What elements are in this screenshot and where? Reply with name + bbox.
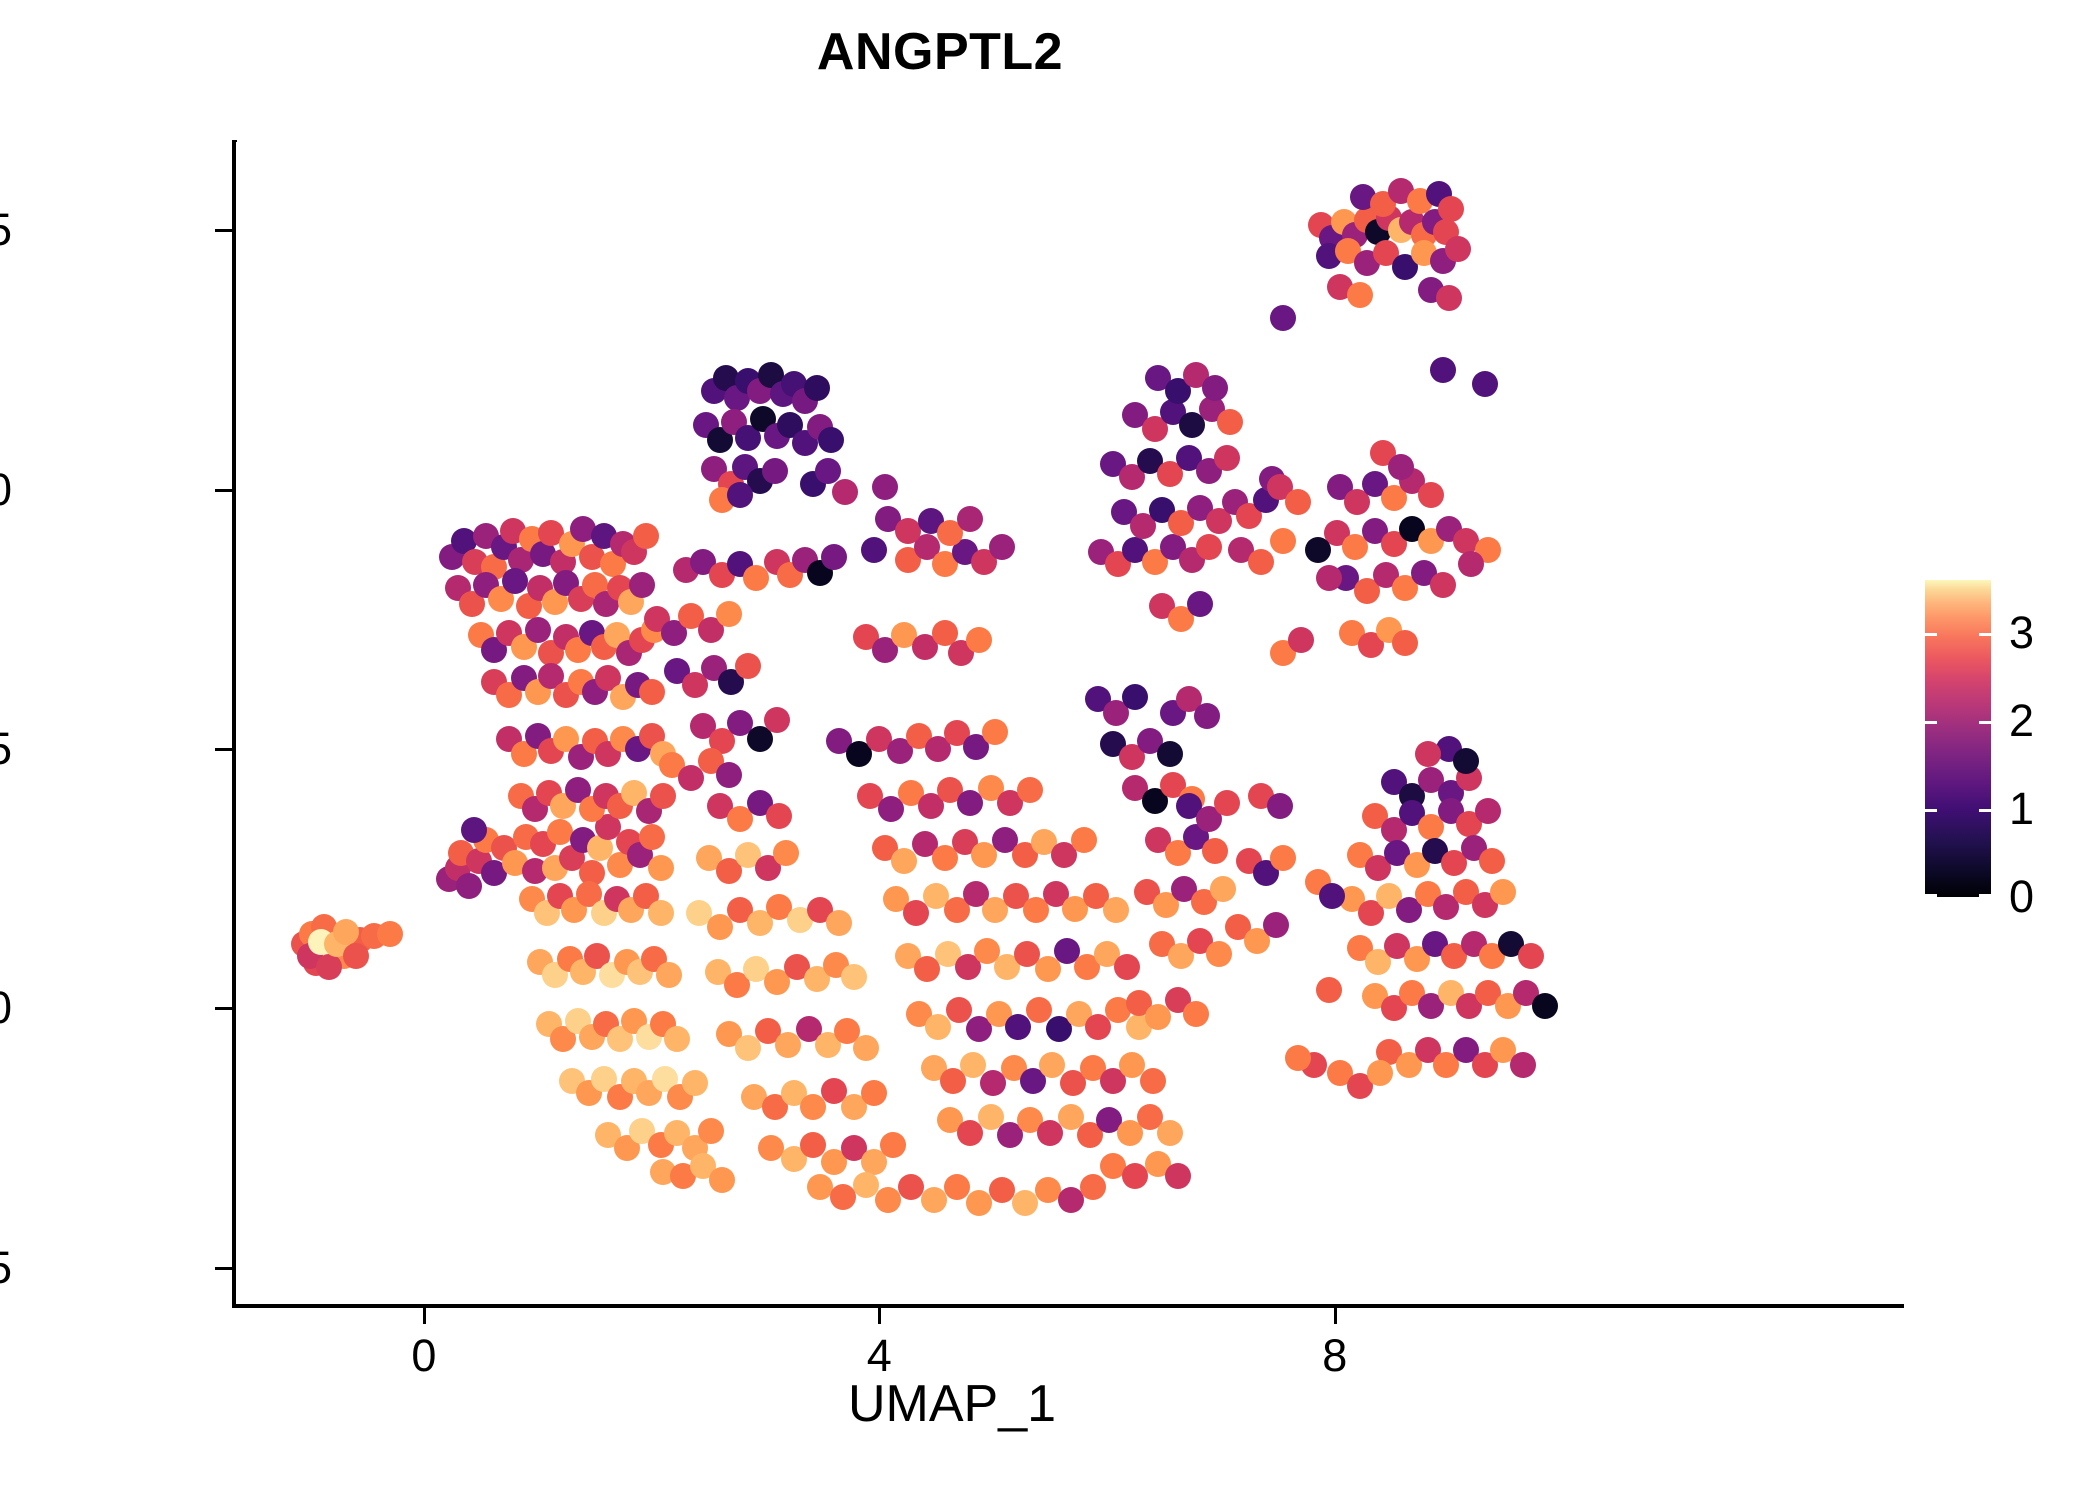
colorbar-tick xyxy=(1925,809,1937,812)
colorbar-tick xyxy=(1925,633,1937,636)
scatter-point xyxy=(639,679,665,705)
scatter-point xyxy=(861,537,887,563)
scatter-point xyxy=(1157,741,1183,767)
scatter-point xyxy=(727,482,753,508)
scatter-point xyxy=(1392,630,1418,656)
x-axis-title: UMAP_1 xyxy=(0,1374,1904,1434)
scatter-point xyxy=(966,1190,992,1216)
scatter-layer xyxy=(236,142,1904,1304)
colorbar-tick-label: 2 xyxy=(2009,695,2034,747)
scatter-point xyxy=(1490,879,1516,905)
colorbar-tick xyxy=(1979,633,1991,636)
y-tick-label: -2.5 xyxy=(0,1242,12,1294)
scatter-point xyxy=(1445,236,1471,262)
scatter-point xyxy=(525,617,551,643)
scatter-point xyxy=(826,910,852,936)
scatter-point xyxy=(989,534,1015,560)
scatter-point xyxy=(925,1014,951,1040)
scatter-point xyxy=(875,1187,901,1213)
x-tick-label: 0 xyxy=(411,1330,436,1382)
scatter-point xyxy=(1270,845,1296,871)
scatter-point xyxy=(1305,537,1331,563)
scatter-point xyxy=(1430,572,1456,598)
scatter-point xyxy=(1071,827,1097,853)
page-title: ANGPTL2 xyxy=(0,22,1880,82)
scatter-point xyxy=(1202,375,1228,401)
y-tick-label: 5.0 xyxy=(0,464,12,516)
x-tick xyxy=(878,1304,881,1324)
x-tick-label: 8 xyxy=(1322,1330,1347,1382)
y-tick-label: 2.5 xyxy=(0,723,12,775)
scatter-point xyxy=(1012,1190,1038,1216)
scatter-point xyxy=(1103,897,1129,923)
scatter-point xyxy=(735,653,761,679)
scatter-point xyxy=(1518,943,1544,969)
scatter-point xyxy=(1187,591,1213,617)
scatter-point xyxy=(648,900,674,926)
scatter-point xyxy=(1202,838,1228,864)
scatter-point xyxy=(1347,282,1373,308)
scatter-point xyxy=(898,1174,924,1200)
scatter-point xyxy=(1388,454,1414,480)
colorbar-tick-label: 3 xyxy=(2009,607,2034,659)
scatter-point xyxy=(944,1174,970,1200)
scatter-point xyxy=(1217,409,1243,435)
scatter-point xyxy=(1122,684,1148,710)
y-tick-label: 0.0 xyxy=(0,982,12,1034)
scatter-point xyxy=(966,627,992,653)
scatter-point xyxy=(1214,445,1240,471)
colorbar-tick xyxy=(1925,894,1937,897)
scatter-point xyxy=(1479,848,1505,874)
y-tick-label: 7.5 xyxy=(0,204,12,256)
scatter-point xyxy=(1017,777,1043,803)
x-tick-label: 4 xyxy=(867,1330,892,1382)
y-tick xyxy=(215,229,236,232)
colorbar-tick xyxy=(1979,894,1991,897)
scatter-point xyxy=(1214,790,1240,816)
colorbar-tick xyxy=(1979,721,1991,724)
colorbar-gradient xyxy=(1925,580,1991,897)
scatter-point xyxy=(456,873,482,899)
scatter-point xyxy=(1472,371,1498,397)
scatter-point xyxy=(1196,534,1222,560)
scatter-point xyxy=(1194,703,1220,729)
colorbar-tick-label: 0 xyxy=(2009,871,2034,923)
scatter-point xyxy=(656,962,682,988)
scatter-point xyxy=(698,1118,724,1144)
scatter-point xyxy=(664,1026,690,1052)
scatter-point xyxy=(343,943,369,969)
scatter-point xyxy=(1316,565,1342,591)
scatter-point xyxy=(709,1167,735,1193)
scatter-point xyxy=(818,427,844,453)
y-tick xyxy=(215,748,236,751)
scatter-point xyxy=(1510,1052,1536,1078)
scatter-point xyxy=(1367,1060,1393,1086)
scatter-point xyxy=(1114,954,1140,980)
y-tick xyxy=(215,1007,236,1010)
scatter-point xyxy=(1206,941,1232,967)
scatter-point xyxy=(1270,528,1296,554)
x-tick xyxy=(1334,1304,1337,1324)
scatter-point xyxy=(1005,1014,1031,1040)
scatter-point xyxy=(1532,993,1558,1019)
scatter-point xyxy=(1263,912,1289,938)
scatter-point xyxy=(982,719,1008,745)
scatter-point xyxy=(502,568,528,594)
scatter-point xyxy=(1288,627,1314,653)
scatter-point xyxy=(1157,1120,1183,1146)
scatter-point xyxy=(1026,997,1052,1023)
scatter-point xyxy=(629,572,655,598)
scatter-point xyxy=(989,1177,1015,1203)
plot-panel xyxy=(236,142,1904,1304)
scatter-point xyxy=(1438,196,1464,222)
scatter-point xyxy=(1418,482,1444,508)
scatter-point xyxy=(957,506,983,532)
y-tick xyxy=(215,1267,236,1270)
scatter-point xyxy=(1140,1068,1166,1094)
scatter-point xyxy=(639,824,665,850)
scatter-point xyxy=(1430,357,1456,383)
scatter-point xyxy=(832,479,858,505)
scatter-point xyxy=(946,997,972,1023)
y-tick xyxy=(215,489,236,492)
scatter-point xyxy=(648,855,674,881)
colorbar-legend: 0123 xyxy=(1925,580,1991,897)
colorbar-tick xyxy=(1979,809,1991,812)
scatter-point xyxy=(377,921,403,947)
scatter-point xyxy=(804,375,830,401)
scatter-point xyxy=(853,1172,879,1198)
scatter-point xyxy=(773,840,799,866)
scatter-point xyxy=(895,518,921,544)
scatter-point xyxy=(1035,1177,1061,1203)
scatter-point xyxy=(1183,1001,1209,1027)
scatter-point xyxy=(1165,1163,1191,1189)
scatter-point xyxy=(921,1187,947,1213)
scatter-point xyxy=(1248,549,1274,575)
scatter-point xyxy=(1453,748,1479,774)
scatter-point xyxy=(461,817,487,843)
scatter-point xyxy=(333,919,359,945)
scatter-point xyxy=(1436,285,1462,311)
scatter-point xyxy=(861,1080,887,1106)
scatter-point xyxy=(716,601,742,627)
scatter-point xyxy=(1316,977,1342,1003)
scatter-point xyxy=(1285,489,1311,515)
scatter-point xyxy=(891,848,917,874)
scatter-point xyxy=(872,474,898,500)
scatter-point xyxy=(764,707,790,733)
scatter-point xyxy=(821,544,847,570)
scatter-point xyxy=(716,762,742,788)
scatter-point xyxy=(633,523,659,549)
scatter-point xyxy=(1458,551,1484,577)
scatter-point xyxy=(762,458,788,484)
scatter-point xyxy=(682,1070,708,1096)
scatter-point xyxy=(1210,876,1236,902)
scatter-point xyxy=(1270,305,1296,331)
scatter-point xyxy=(841,964,867,990)
chart-root: ANGPTL2 UMAP_2 UMAP_1 -2.50.02.55.07.5 0… xyxy=(0,0,2100,1500)
scatter-point xyxy=(1267,793,1293,819)
scatter-point xyxy=(1058,1187,1084,1213)
scatter-point xyxy=(766,803,792,829)
scatter-point xyxy=(830,1184,856,1210)
x-tick xyxy=(423,1304,426,1324)
scatter-point xyxy=(1475,798,1501,824)
scatter-point xyxy=(316,954,342,980)
scatter-point xyxy=(1080,1174,1106,1200)
scatter-point xyxy=(650,783,676,809)
colorbar-tick xyxy=(1925,721,1937,724)
scatter-point xyxy=(880,1132,906,1158)
scatter-point xyxy=(743,565,769,591)
colorbar-tick-label: 1 xyxy=(2009,783,2034,835)
scatter-point xyxy=(853,1035,879,1061)
scatter-point xyxy=(1415,741,1441,767)
